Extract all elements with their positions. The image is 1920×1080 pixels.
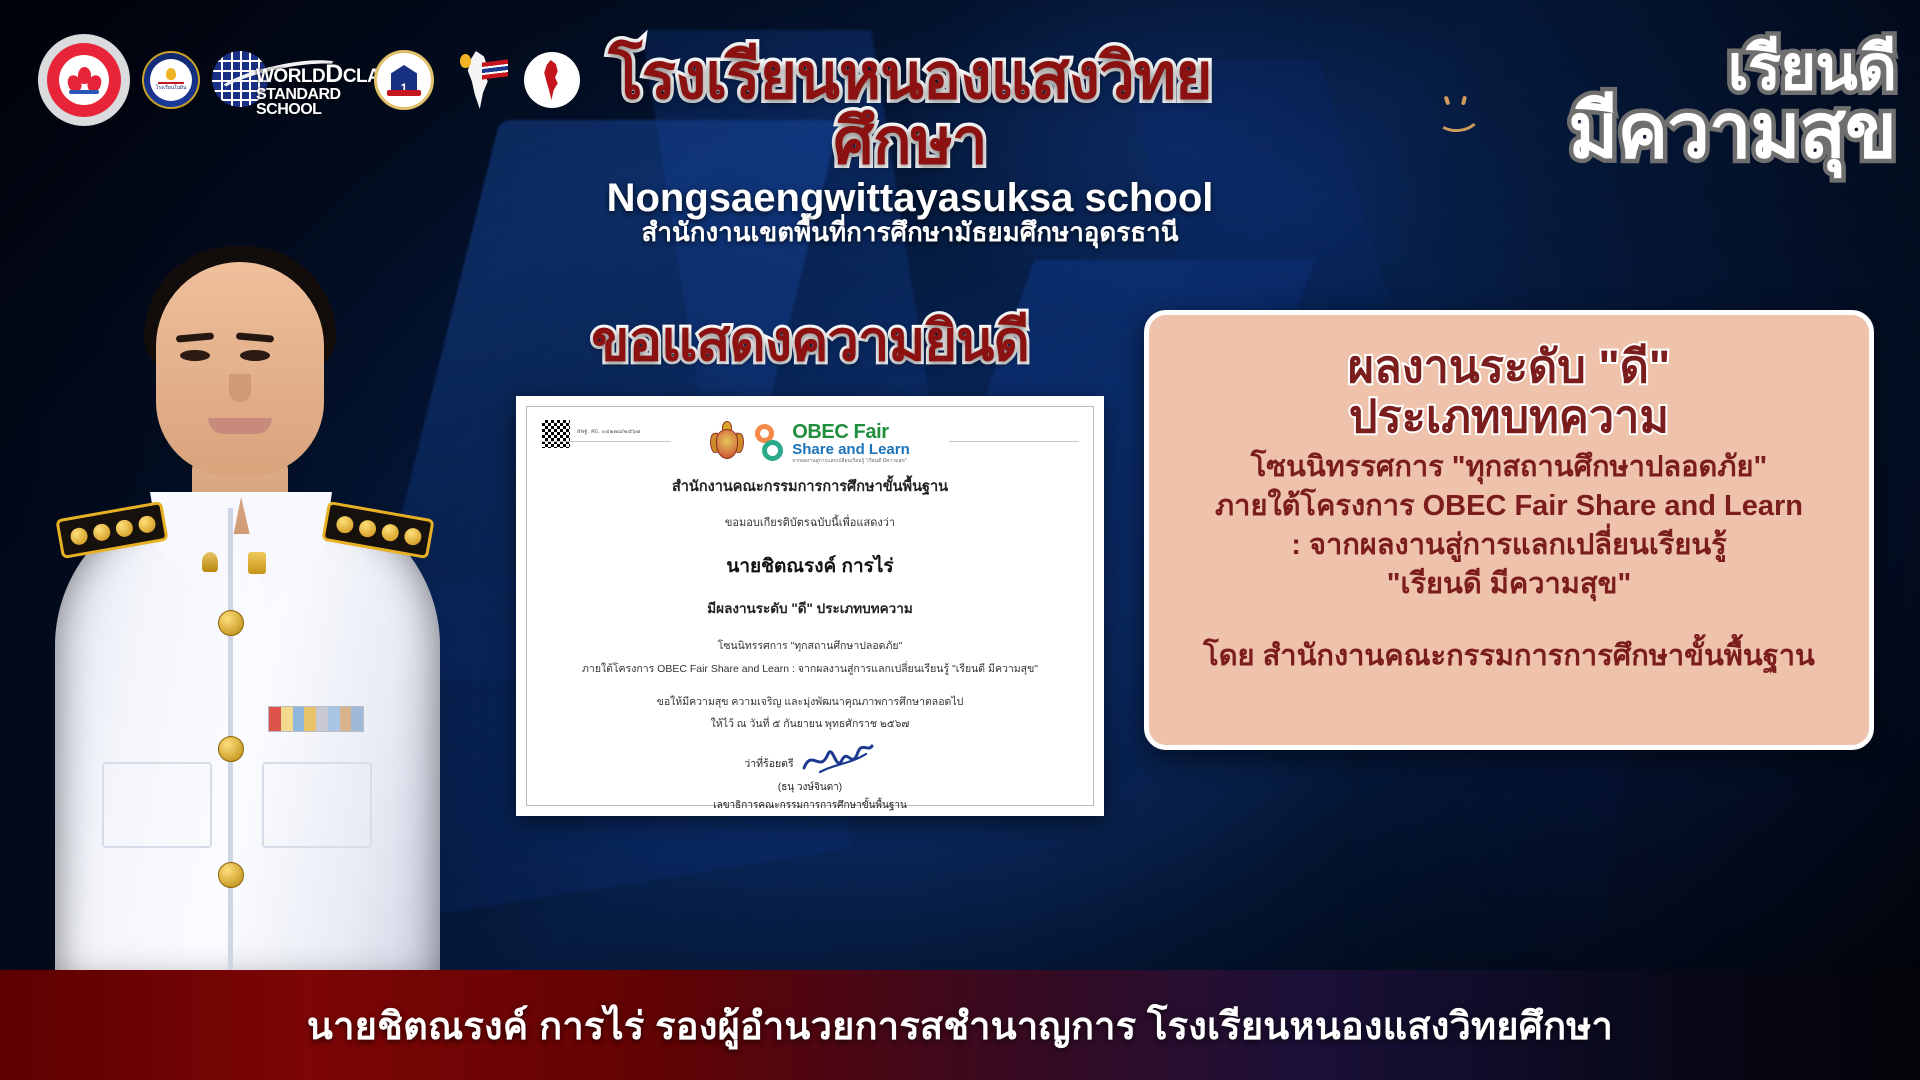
panel-heading-2: ประเภทบทความ [1349,393,1669,441]
wcs-line1: WORLD [256,66,325,87]
panel-heading-1: ผลงานระดับ "ดี" [1348,343,1670,391]
award-school-logo: 1 [374,50,434,110]
qr-code-icon [541,419,571,449]
signature-icon [800,748,876,778]
portrait-face [156,262,324,476]
certificate-wish: ขอให้มีความสุข ความเจริญ และมุ่งพัฒนาคุณ… [553,693,1067,710]
certificate-image: สพฐ. ศธ. ๐๔๒๗๘/๒๕๖๗ OBEC Fair Share and … [516,396,1104,816]
school-name-thai: โรงเรียนหนองแสงวิทยศึกษา [560,44,1260,175]
school-name-english: Nongsaengwittayasuksa school [560,177,1260,219]
bottom-name-bar: นายชิตณรงค์ การไร่ รองผู้อำนวยการสชำนาญก… [0,970,1920,1080]
certificate-result: มีผลงานระดับ "ดี" ประเภทบทความ [553,597,1067,619]
world-class-standard-school-logo: WORLDDCLASS STANDARD SCHOOL [212,49,362,111]
certificate-signature-block: ว่าที่ร้อยตรี (ธนุ วงษ์จินดา) เลขาธิการค… [553,748,1067,813]
certificate-date: ให้ไว้ ณ วันที่ ๕ กันยายน พุทธศักราช ๒๕๖… [553,715,1067,732]
certificate-signer-rank: ว่าที่ร้อยตรี [744,755,793,772]
panel-line-4: "เรียนดี มีความสุข" [1387,567,1631,602]
logo-strip: โรงเรียนในฝัน WORLDDCLASS STANDARD SCHOO… [38,34,580,126]
portrait-photo [10,196,480,986]
dream-school-logo: โรงเรียนในฝัน [142,51,200,109]
obec-title: OBEC Fair [792,422,910,442]
header-block: โรงเรียนหนองแสงวิทยศึกษา Nongsaengwittay… [560,44,1260,248]
certificate-zone: โซนนิทรรศการ "ทุกสถานศึกษาปลอดภัย" [553,637,1067,654]
wcs-big-d: D [325,60,343,88]
panel-line-2: ภายใต้โครงการ OBEC Fair Share and Learn [1215,489,1803,524]
wcs-line4: SCHOOL [256,101,321,118]
school-seal-logo [38,34,130,126]
certificate-recipient-name: นายชิตณรงค์ การไร่ [553,551,1067,581]
certificate-award-intro: ขอมอบเกียรติบัตรฉบับนี้เพื่อแสดงว่า [553,513,1067,531]
certificate-organization: สำนักงานคณะกรรมการการศึกษาขั้นพื้นฐาน [553,475,1067,498]
obec-fair-logo: OBEC Fair Share and Learn จากผลงานสู่การ… [753,422,910,464]
award-detail-panel: ผลงานระดับ "ดี" ประเภทบทความ โซนนิทรรศกา… [1144,310,1874,750]
congratulations-heading: ขอแสดงความยินดี [530,296,1090,385]
panel-line-3: : จากผลงานสู่การแลกเปลี่ยนเรียนรู้ [1291,528,1727,563]
certificate-signer-title: เลขาธิการคณะกรรมการการศึกษาขั้นพื้นฐาน [553,798,1067,813]
obec-tagline: จากผลงานสู่การแลกเปลี่ยนเรียนรู้ "เรียนด… [792,459,910,465]
panel-footer: โดย สำนักงานคณะกรรมการการศึกษาขั้นพื้นฐา… [1203,632,1815,678]
certificate-project: ภายใต้โครงการ OBEC Fair Share and Learn … [553,660,1067,677]
certificate-signer-name: (ธนุ วงษ์จินดา) [553,780,1067,795]
service-ribbons [268,706,364,732]
panel-line-1: โซนนิทรรศการ "ทุกสถานศึกษาปลอดภัย" [1251,450,1768,485]
obec-infinity-icon [753,423,787,463]
garuda-emblem-icon [710,421,744,465]
smiley-icon [1436,96,1482,130]
education-office-name: สำนักงานเขตพื้นที่การศึกษามัธยมศึกษาอุดร… [560,217,1260,248]
poster-canvas: โรงเรียนในฝัน WORLDDCLASS STANDARD SCHOO… [0,0,1920,1080]
slogan-line-2: มีความสุข [1568,96,1896,167]
moral-school-logo [446,47,512,113]
obec-subtitle: Share and Learn [792,442,910,458]
bottom-bar-text: นายชิตณรงค์ การไร่ รองผู้อำนวยการสชำนาญก… [307,995,1613,1056]
slogan-block: เรียนดี มีความสุข [1568,40,1896,168]
certificate-qr-reference: สพฐ. ศธ. ๐๔๒๗๘/๒๕๖๗ [577,428,640,436]
